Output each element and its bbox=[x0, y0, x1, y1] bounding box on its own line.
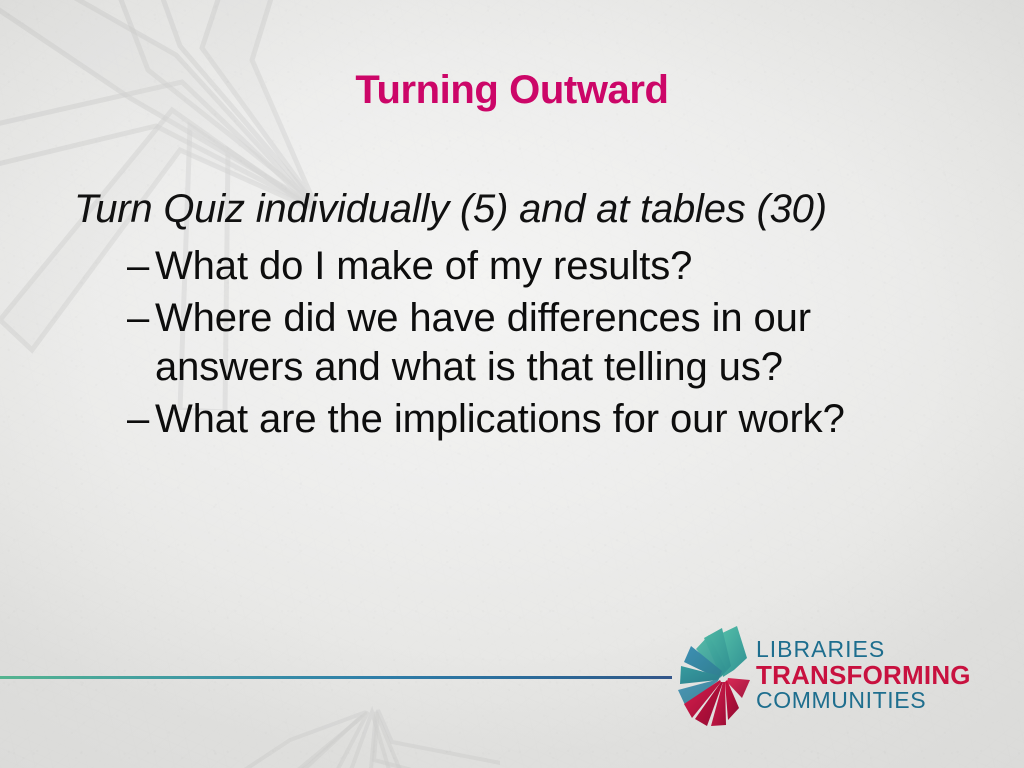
slide-title: Turning Outward bbox=[0, 68, 1024, 112]
lead-line: Turn Quiz individually (5) and at tables… bbox=[74, 186, 974, 232]
slide-body: Turn Quiz individually (5) and at tables… bbox=[74, 186, 974, 447]
bullet-list: – What do I make of my results? – Where … bbox=[74, 242, 974, 443]
bullet-item: – What are the implications for our work… bbox=[74, 395, 955, 444]
logo-line-communities: COMMUNITIES bbox=[756, 689, 971, 712]
bullet-dash-marker: – bbox=[127, 395, 149, 444]
bullet-text: Where did we have differences in our ans… bbox=[155, 296, 811, 389]
logo-line-transforming: TRANSFORMING bbox=[756, 662, 971, 688]
logo-wordmark: LIBRARIES TRANSFORMING COMMUNITIES bbox=[756, 638, 971, 712]
bullet-item: – Where did we have differences in our a… bbox=[74, 294, 955, 392]
bullet-text: What are the implications for our work? bbox=[155, 397, 845, 441]
bullet-dash-marker: – bbox=[127, 242, 149, 291]
bullet-dash-marker: – bbox=[127, 294, 149, 343]
bullet-item: – What do I make of my results? bbox=[74, 242, 974, 291]
footer-divider-rule bbox=[0, 676, 672, 679]
slide-canvas: Turning Outward Turn Quiz individually (… bbox=[0, 0, 1024, 768]
bullet-text: What do I make of my results? bbox=[155, 244, 692, 288]
organization-logo: LIBRARIES TRANSFORMING COMMUNITIES bbox=[676, 620, 946, 732]
logo-line-libraries: LIBRARIES bbox=[756, 638, 971, 661]
pinwheel-books-icon bbox=[676, 622, 754, 730]
